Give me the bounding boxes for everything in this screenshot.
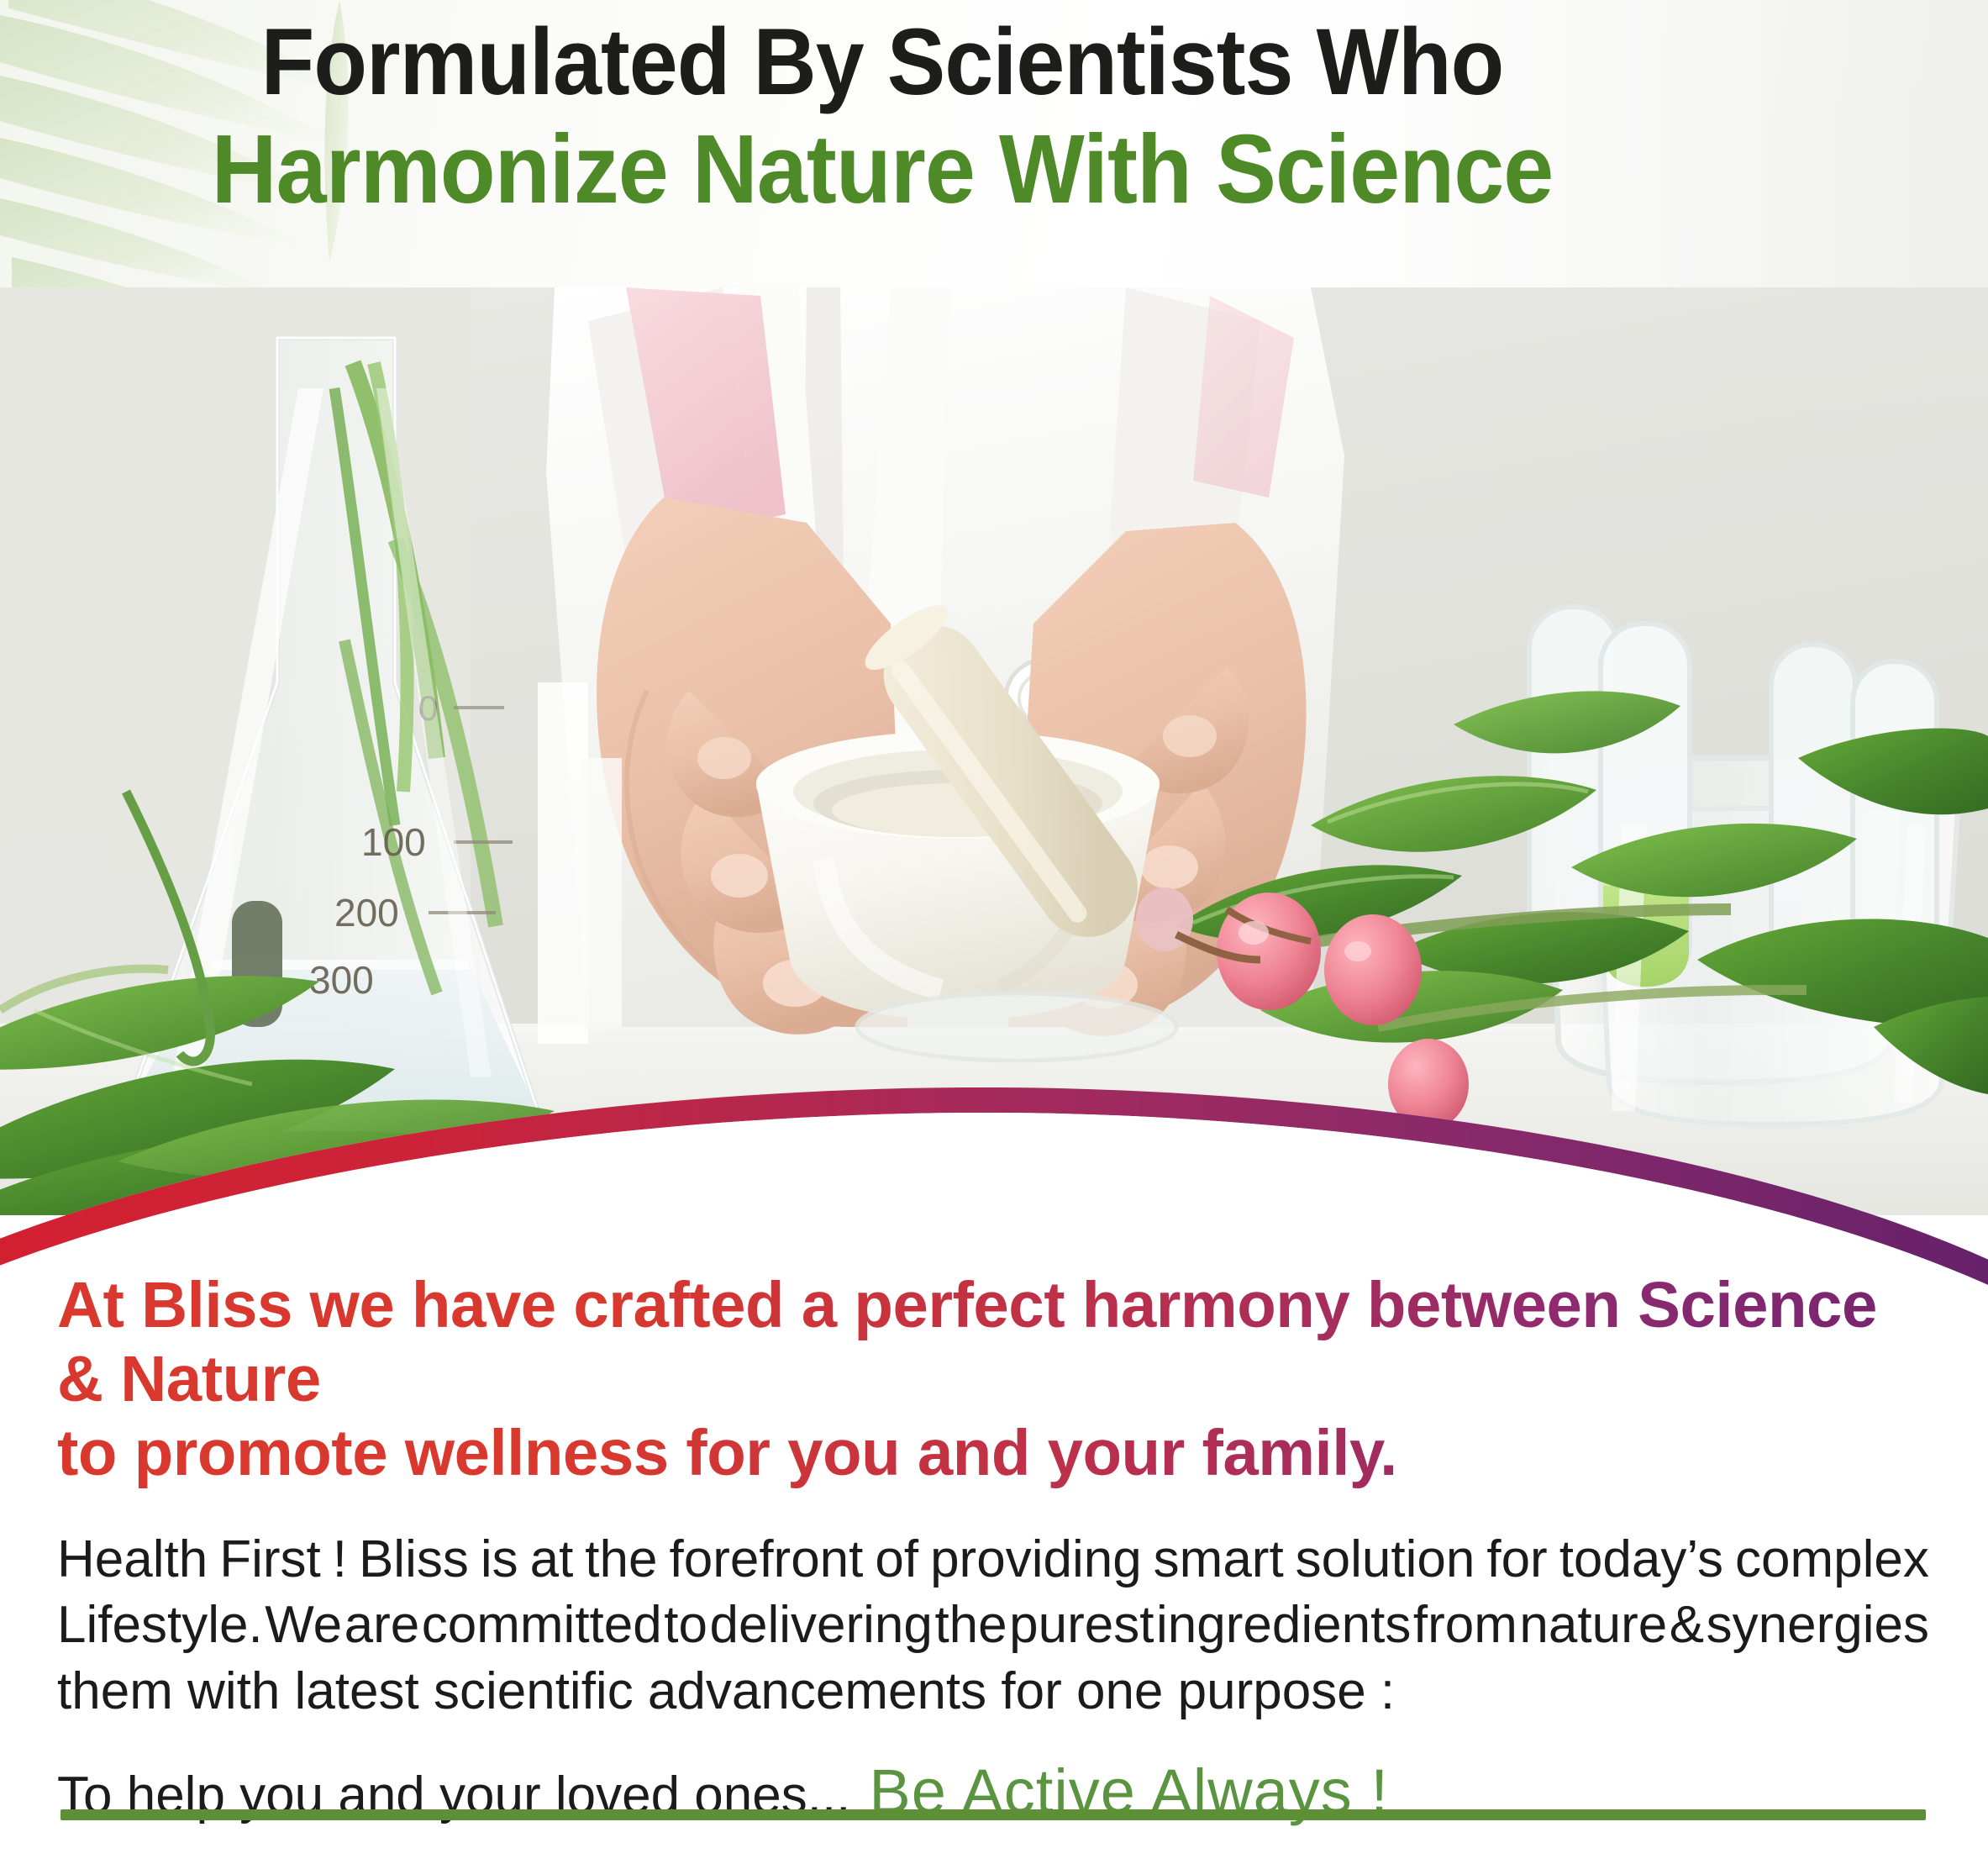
lead-headline-line1: At Bliss we have crafted a perfect harmo… xyxy=(57,1269,1877,1415)
header-title-block: Formulated By Scientists Who Harmonize N… xyxy=(0,12,1764,222)
body-content: At Bliss we have crafted a perfect harmo… xyxy=(57,1269,1931,1829)
paragraph-line-1: Health First ! Bliss is at the forefront… xyxy=(57,1527,1929,1593)
body-paragraph: Health First ! Bliss is at the forefront… xyxy=(57,1527,1929,1724)
hero-photo: 0 100 200 300 xyxy=(0,287,1988,1215)
paragraph-line-3: them with latest scientific advancements… xyxy=(57,1659,1929,1724)
header-banner: Formulated By Scientists Who Harmonize N… xyxy=(0,0,1988,287)
page-title-line2: Harmonize Nature With Science xyxy=(62,117,1703,222)
paragraph-line-2: Lifestyle. We are committed to deliverin… xyxy=(57,1593,1929,1658)
lead-headline-line2: to promote wellness for you and your fam… xyxy=(57,1417,1912,1491)
promo-page: Formulated By Scientists Who Harmonize N… xyxy=(0,0,1988,1864)
hero-photo-illustration: 0 100 200 300 xyxy=(0,287,1988,1215)
page-title-line1: Formulated By Scientists Who xyxy=(62,12,1703,113)
footer-divider-rule xyxy=(60,1809,1926,1820)
lead-headline: At Bliss we have crafted a perfect harmo… xyxy=(57,1269,1912,1490)
